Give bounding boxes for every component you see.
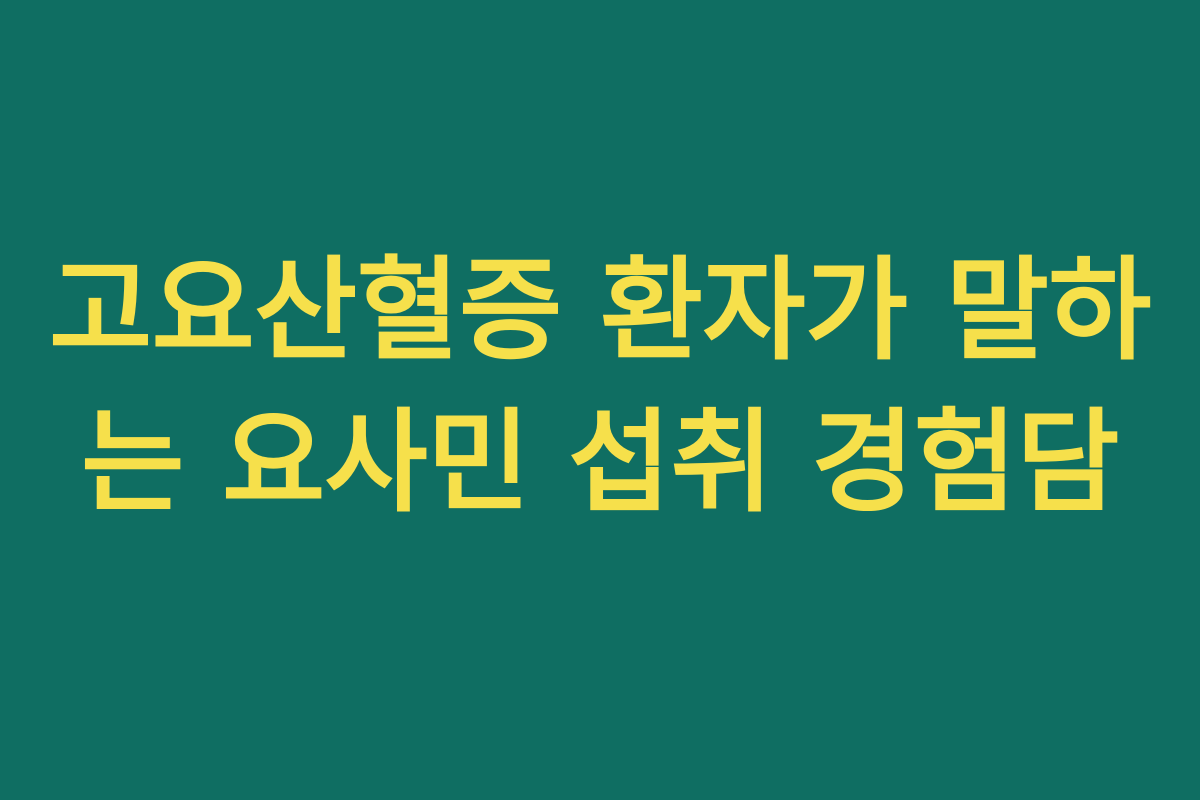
headline-line-2: 는 요사민 섭취 경험담	[81, 391, 1119, 537]
headline-line-1: 고요산혈증 환자가 말하	[49, 239, 1151, 385]
thumbnail-canvas: 고요산혈증 환자가 말하 는 요사민 섭취 경험담	[0, 0, 1200, 800]
headline-block: 고요산혈증 환자가 말하 는 요사민 섭취 경험담	[70, 239, 1130, 536]
